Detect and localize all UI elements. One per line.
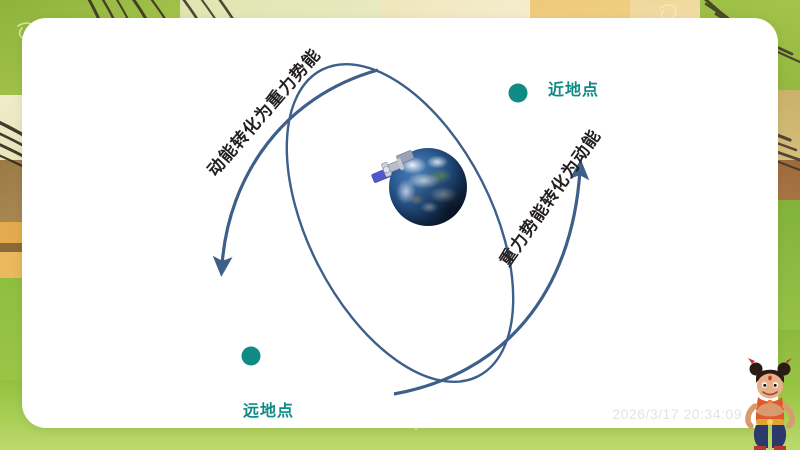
satellite-icon [368,144,418,190]
timestamp-watermark: 2026/3/17 20:34:09 [612,406,742,422]
content-card: 动能转化为重力势能 重力势能转化为动能 近地点 远地点 2026/3/17 20… [22,18,778,428]
arrow-kinetic-to-potential [222,70,378,266]
slide-stage: 动能转化为重力势能 重力势能转化为动能 近地点 远地点 2026/3/17 20… [0,0,800,450]
orbit-diagram [22,18,778,428]
label-apogee: 远地点 [243,397,294,421]
nezha-character-icon [742,356,798,450]
apogee-marker-dot [242,347,261,366]
perigee-marker-dot [509,84,528,103]
label-perigee: 近地点 [548,76,599,100]
